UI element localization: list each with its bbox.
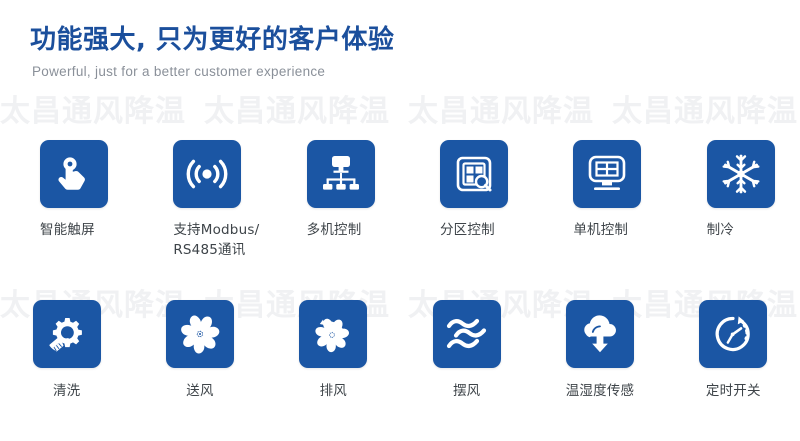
feature-item-multi-unit-control[interactable]: 多机控制 (267, 140, 400, 260)
feature-item-timer-switch[interactable]: 定时开关 (667, 300, 800, 402)
touch-screen-icon (40, 140, 108, 208)
watermark-text: 太昌通风降温 (612, 88, 800, 128)
feature-label: 定时开关 (706, 382, 761, 402)
feature-label: 送风 (186, 382, 213, 402)
feature-item-single-unit-control[interactable]: 单机控制 (533, 140, 666, 260)
single-unit-monitor-icon (573, 140, 641, 208)
feature-label: 支持Modbus/ RS485通讯 (173, 221, 259, 260)
feature-label: 多机控制 (307, 221, 362, 241)
feature-label: 制冷 (707, 221, 734, 241)
feature-item-exhaust[interactable]: 排风 (267, 300, 400, 402)
wireless-signal-icon (173, 140, 241, 208)
feature-label: 分区控制 (440, 221, 495, 241)
cloud-down-arrow-sensor-icon (566, 300, 634, 368)
feature-item-touch-screen[interactable]: 智能触屏 (0, 140, 133, 260)
page-title: 功能强大, 只为更好的客户体验 (30, 26, 394, 56)
feature-item-swing[interactable]: 摆风 (400, 300, 533, 402)
zone-grid-search-icon (440, 140, 508, 208)
page-header: 功能强大, 只为更好的客户体验 Powerful, just for a bet… (30, 26, 394, 79)
gear-brush-clean-icon (33, 300, 101, 368)
feature-label: 温湿度传感 (566, 382, 635, 402)
page-subtitle: Powerful, just for a better customer exp… (32, 64, 394, 79)
feature-label: 清洗 (53, 382, 80, 402)
feature-label: 排风 (320, 382, 347, 402)
watermark-text: 太昌通风降温 (0, 88, 204, 128)
fan-blower-icon (166, 300, 234, 368)
feature-item-cooling[interactable]: 制冷 (667, 140, 800, 260)
feature-label: 智能触屏 (40, 221, 95, 241)
fan-exhaust-arrow-icon (299, 300, 367, 368)
watermark-text: 太昌通风降温 (408, 88, 612, 128)
feature-item-air-supply[interactable]: 送风 (133, 300, 266, 402)
feature-label: 单机控制 (573, 221, 628, 241)
feature-grid-row-2: 清洗 (0, 300, 800, 402)
feature-item-modbus-rs485[interactable]: 支持Modbus/ RS485通讯 (133, 140, 266, 260)
feature-item-zone-control[interactable]: 分区控制 (400, 140, 533, 260)
multi-unit-network-icon (307, 140, 375, 208)
feature-item-cleaning[interactable]: 清洗 (0, 300, 133, 402)
watermark-text: 太昌通风降温 (204, 88, 408, 128)
clock-timer-arrow-icon (699, 300, 767, 368)
feature-grid-row-1: 智能触屏 支持Modbus/ RS485通讯 (0, 140, 800, 260)
swing-wave-icon (433, 300, 501, 368)
watermark-band-top: 太昌通风降温太昌通风降温太昌通风降温太昌通风降温太昌通风降温 (0, 88, 800, 128)
snowflake-icon (707, 140, 775, 208)
feature-label: 摆风 (453, 382, 480, 402)
feature-item-temp-humidity-sensor[interactable]: 温湿度传感 (533, 300, 666, 402)
feature-highlight-page: 太昌通风降温太昌通风降温太昌通风降温太昌通风降温太昌通风降温 功能强大, 只为更… (0, 0, 800, 441)
